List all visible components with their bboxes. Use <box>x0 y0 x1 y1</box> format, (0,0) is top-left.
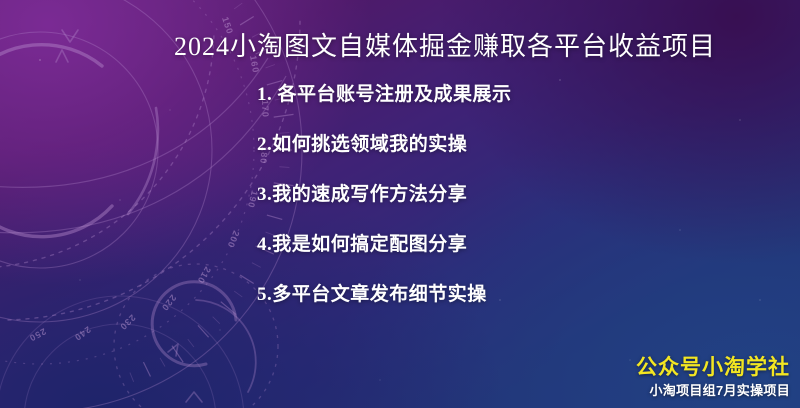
agenda-item-3: 3.我的速成写作方法分享 <box>257 184 727 234</box>
slide-title: 2024小淘图文自媒体掘金赚取各平台收益项目 <box>0 26 800 63</box>
branding-block: 公众号小淘学社 小淘项目组7月实操项目 <box>636 354 790 400</box>
agenda-item-2: 2.如何挑选领域我的实操 <box>257 134 727 184</box>
dial-label-200: 200 <box>225 229 241 249</box>
agenda-item-1: 1. 各平台账号注册及成果展示 <box>257 84 727 134</box>
agenda-item-5: 5.多平台文章发布细节实操 <box>257 284 727 334</box>
agenda-item-4: 4.我是如何搞定配图分享 <box>257 234 727 284</box>
dial-label-220: 220 <box>159 293 178 313</box>
presentation-slide: 150 160 170 180 190 200 210 220 230 240 … <box>0 0 800 408</box>
agenda-list: 1. 各平台账号注册及成果展示 2.如何挑选领域我的实操 3.我的速成写作方法分… <box>257 84 727 334</box>
dial-label-210: 210 <box>195 265 213 286</box>
dial-label-250: 250 <box>27 326 48 343</box>
dial-label-230: 230 <box>118 313 138 333</box>
brand-name: 公众号小淘学社 <box>636 354 790 380</box>
dial-label-240: 240 <box>72 324 92 343</box>
brand-subtitle: 小淘项目组7月实操项目 <box>636 381 790 401</box>
